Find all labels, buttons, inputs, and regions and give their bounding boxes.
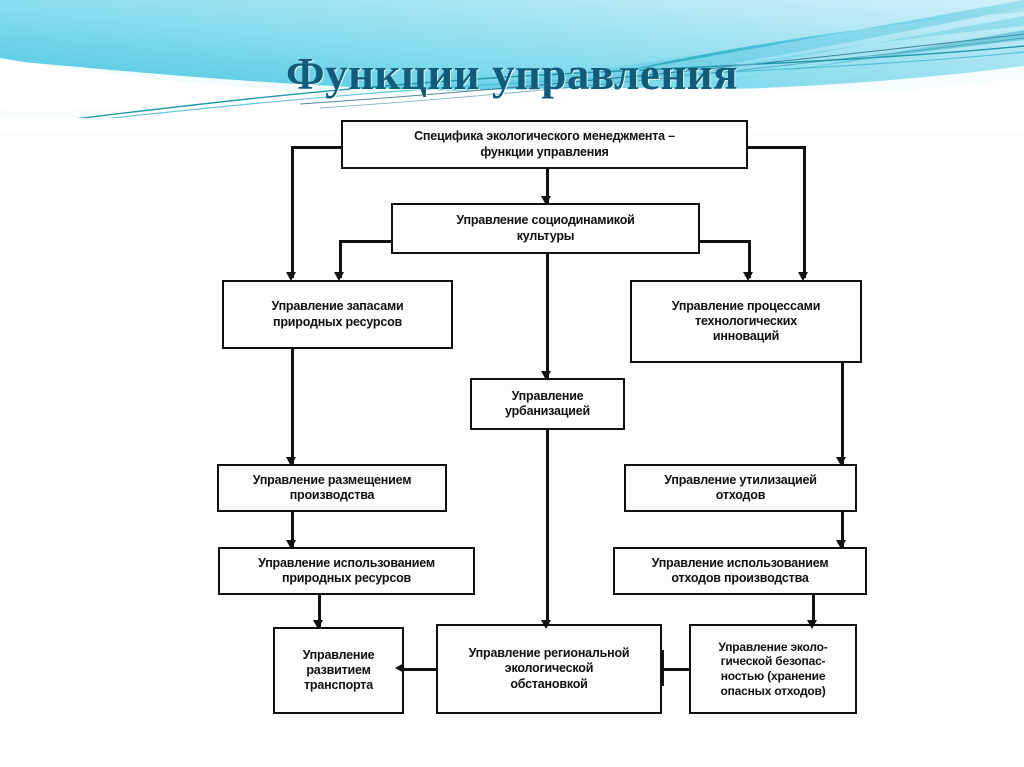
arrowhead-reserves-placement bbox=[286, 457, 296, 466]
edge-regional-transport bbox=[404, 668, 436, 671]
node-transport[interactable]: Управление развитием транспорта bbox=[273, 627, 404, 714]
edge-socio-right-h bbox=[700, 240, 750, 243]
arrowhead-innovations-utilization bbox=[836, 457, 846, 466]
edge-innovations-utilization bbox=[841, 362, 844, 464]
arrowhead-root-reserves bbox=[286, 272, 296, 281]
node-urban-label: Управление урбанизацией bbox=[476, 389, 619, 420]
edge-root-right-h bbox=[748, 146, 805, 149]
node-placement-label: Управление размещением производства bbox=[223, 473, 441, 504]
node-nat-use[interactable]: Управление использованием природных ресу… bbox=[218, 547, 475, 595]
node-placement[interactable]: Управление размещением производства bbox=[217, 464, 447, 512]
arrowhead-root-socio bbox=[541, 196, 551, 205]
edge-root-right-v bbox=[803, 146, 806, 278]
node-reserves-label: Управление запасами природных ресурсов bbox=[228, 299, 447, 330]
arrowhead-regional-transport bbox=[395, 663, 404, 673]
node-reserves[interactable]: Управление запасами природных ресурсов bbox=[222, 280, 453, 349]
edge-socio-urban bbox=[546, 253, 549, 378]
node-root-label: Специфика экологического менеджмента – ф… bbox=[347, 129, 742, 160]
node-socio[interactable]: Управление социодинамикой культуры bbox=[391, 203, 700, 254]
arrowhead-root-innovations bbox=[798, 272, 808, 281]
edge-regional-safety bbox=[661, 668, 689, 671]
node-waste-use-label: Управление использованием отходов произв… bbox=[619, 556, 861, 587]
arrowhead-socio-innovations bbox=[743, 272, 753, 281]
node-waste-use[interactable]: Управление использованием отходов произв… bbox=[613, 547, 867, 595]
arrowhead-socio-reserves bbox=[334, 272, 344, 281]
slide-canvas: Функции управления bbox=[0, 0, 1024, 767]
node-innovations-label: Управление процессами технологических ин… bbox=[636, 299, 856, 345]
node-socio-label: Управление социодинамикой культуры bbox=[397, 213, 694, 244]
arrowhead-socio-urban bbox=[541, 371, 551, 380]
edge-reserves-placement bbox=[291, 348, 294, 464]
node-regional-label: Управление региональной экологической об… bbox=[442, 646, 656, 692]
node-utilization[interactable]: Управление утилизацией отходов bbox=[624, 464, 857, 512]
node-innovations[interactable]: Управление процессами технологических ин… bbox=[630, 280, 862, 363]
node-safety[interactable]: Управление эколо- гической безопас- ност… bbox=[689, 624, 857, 714]
node-transport-label: Управление развитием транспорта bbox=[279, 648, 398, 694]
node-nat-use-label: Управление использованием природных ресу… bbox=[224, 556, 469, 587]
node-utilization-label: Управление утилизацией отходов bbox=[630, 473, 851, 504]
edge-root-left-h bbox=[291, 146, 341, 149]
node-urban[interactable]: Управление урбанизацией bbox=[470, 378, 625, 430]
node-safety-label: Управление эколо- гической безопас- ност… bbox=[695, 640, 851, 699]
arrowhead-utilization-wasteuse bbox=[836, 540, 846, 549]
edge-socio-left-h bbox=[339, 240, 391, 243]
edge-root-left-v bbox=[291, 146, 294, 278]
node-regional[interactable]: Управление региональной экологической об… bbox=[436, 624, 662, 714]
arrowhead-urban-regional bbox=[541, 620, 551, 629]
edge-urban-regional bbox=[546, 429, 549, 627]
node-root[interactable]: Специфика экологического менеджмента – ф… bbox=[341, 120, 748, 169]
page-title: Функции управления bbox=[0, 48, 1024, 100]
arrowhead-wasteuse-safety bbox=[807, 620, 817, 629]
flowchart: Специфика экологического менеджмента – ф… bbox=[0, 0, 1024, 767]
arrowhead-natuse-transport bbox=[313, 620, 323, 629]
arrowhead-placement-natuse bbox=[286, 540, 296, 549]
